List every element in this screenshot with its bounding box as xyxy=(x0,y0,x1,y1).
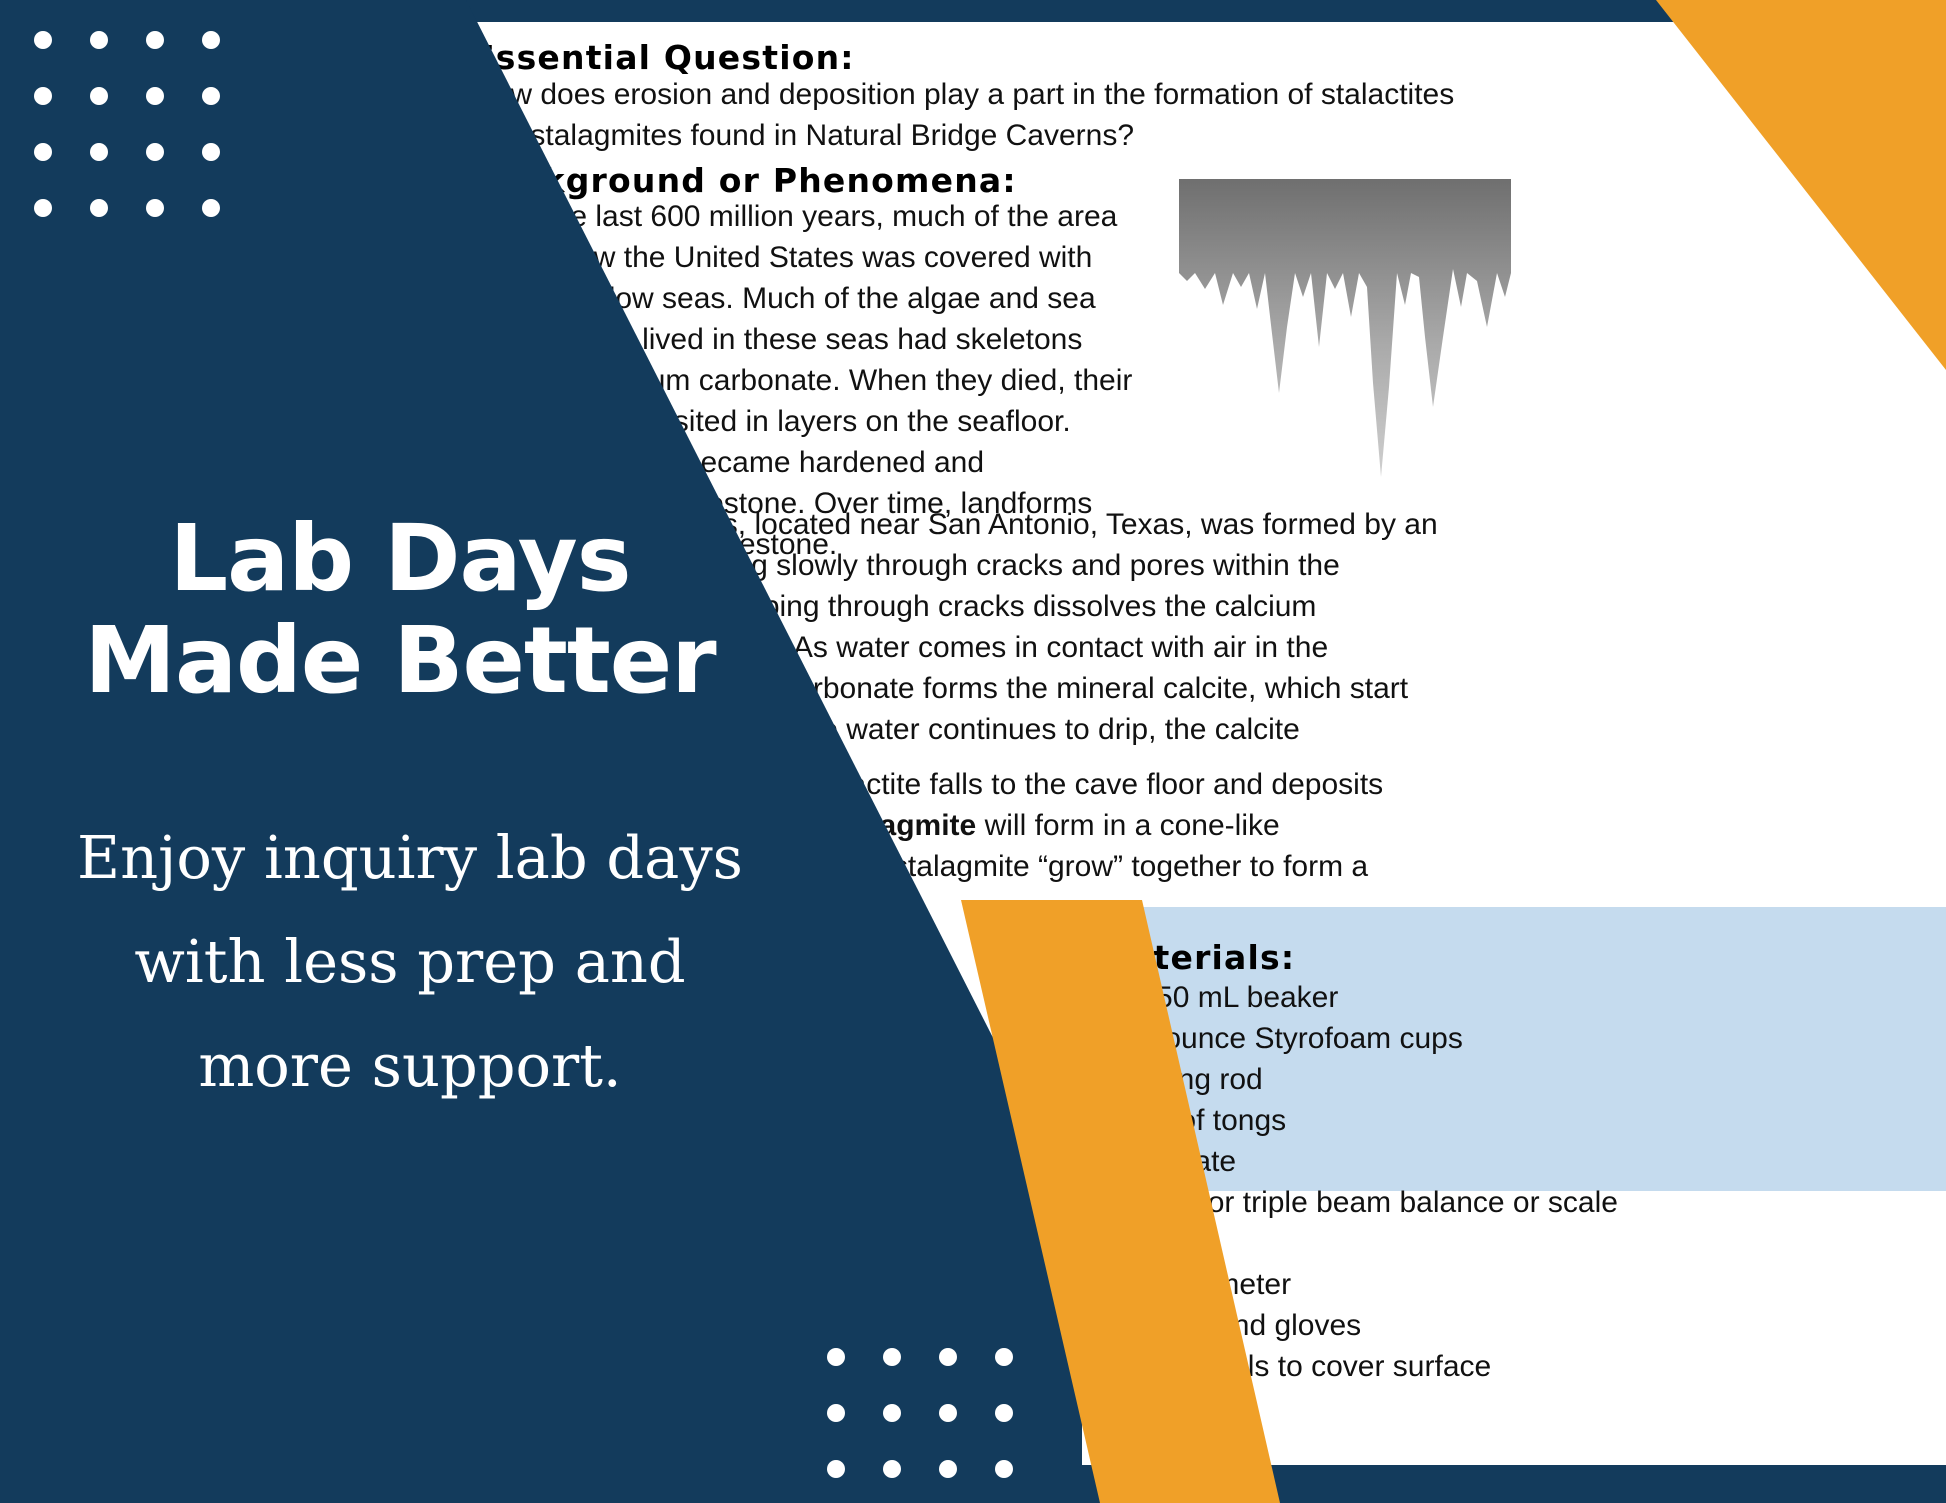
decor-dot xyxy=(883,1348,901,1366)
decor-dot xyxy=(827,1404,845,1422)
essential-question-heading: Essential Question: xyxy=(472,38,855,77)
decor-dot xyxy=(202,199,220,217)
decor-dot xyxy=(202,143,220,161)
decor-dot xyxy=(827,1348,845,1366)
decor-dot xyxy=(939,1460,957,1478)
decor-dot xyxy=(146,87,164,105)
headline-line-1: Lab Days xyxy=(0,508,800,610)
decor-dot xyxy=(827,1460,845,1478)
material-item: 1 - 250 mL beaker xyxy=(1096,977,1618,1018)
subtitle: Enjoy inquiry lab days with less prep an… xyxy=(0,806,820,1118)
decor-dot xyxy=(146,199,164,217)
dot-grid-bottom xyxy=(827,1348,1013,1503)
decor-dot xyxy=(939,1348,957,1366)
decor-dot xyxy=(34,143,52,161)
decor-dot xyxy=(995,1348,1013,1366)
promo-graphic: Essential Question: How does erosion and… xyxy=(0,0,1946,1503)
materials-heading: Materials: xyxy=(1096,938,1618,977)
stalactites-image xyxy=(1175,177,1515,477)
decor-dot xyxy=(90,87,108,105)
essential-question-line: and stalagmites found in Natural Bridge … xyxy=(472,115,1454,156)
decor-dot xyxy=(939,1404,957,1422)
decor-dot xyxy=(995,1404,1013,1422)
decor-dot xyxy=(146,143,164,161)
subtitle-line-1: Enjoy inquiry lab days xyxy=(0,806,820,910)
decor-dot xyxy=(202,31,220,49)
decor-dot xyxy=(995,1460,1013,1478)
dot-grid-top-left xyxy=(34,31,220,217)
decor-dot xyxy=(883,1460,901,1478)
essential-question-body: How does erosion and deposition play a p… xyxy=(472,74,1454,156)
subtitle-line-3: more support. xyxy=(0,1014,820,1118)
headline: Lab Days Made Better xyxy=(0,508,800,712)
decor-dot xyxy=(90,143,108,161)
decor-dot xyxy=(34,31,52,49)
decor-dot xyxy=(883,1404,901,1422)
decor-dot xyxy=(34,199,52,217)
decor-dot xyxy=(34,87,52,105)
subtitle-line-2: with less prep and xyxy=(0,910,820,1014)
essential-question-line: How does erosion and deposition play a p… xyxy=(472,74,1454,115)
decor-dot xyxy=(90,199,108,217)
stalagmite-line-tail: will form in a cone-like xyxy=(976,809,1279,842)
headline-line-2: Made Better xyxy=(0,610,800,712)
decor-dot xyxy=(90,31,108,49)
decor-dot xyxy=(202,87,220,105)
decor-dot xyxy=(146,31,164,49)
